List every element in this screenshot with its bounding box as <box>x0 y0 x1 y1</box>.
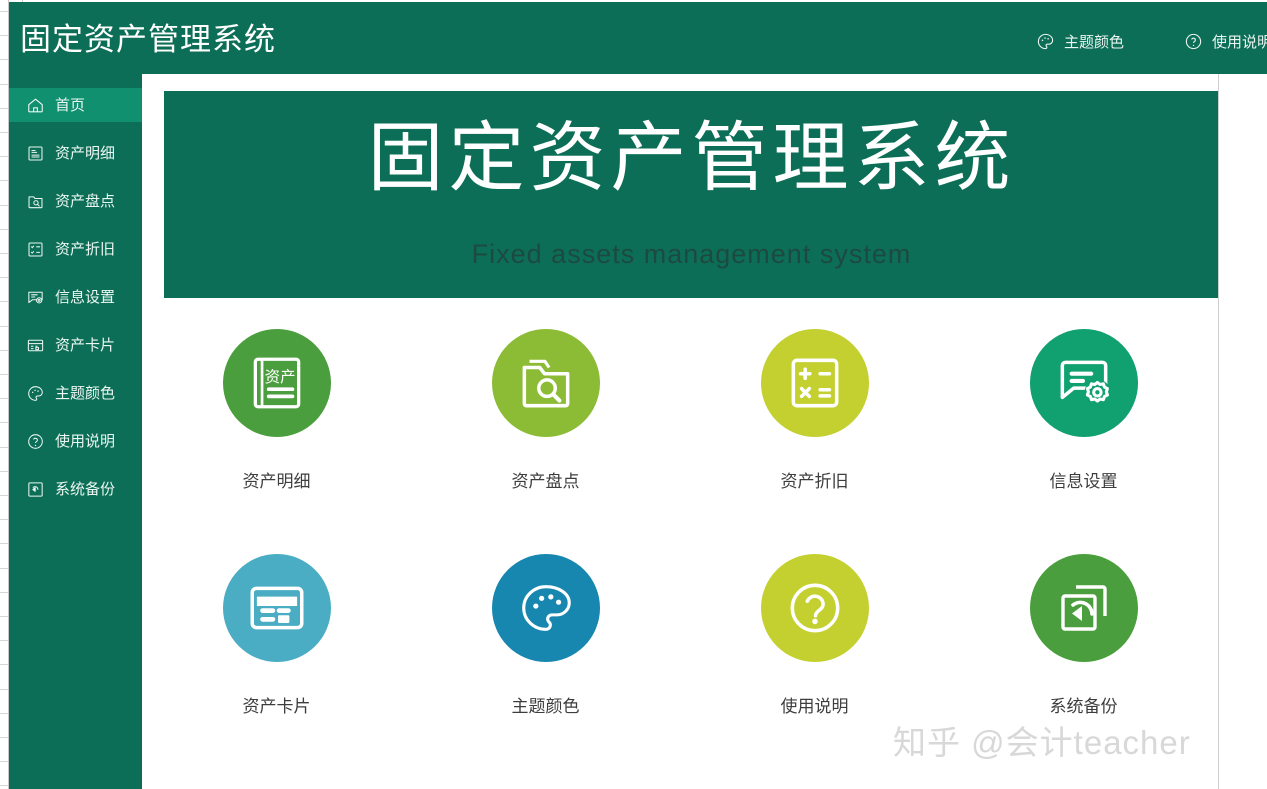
sidebar-item-asset-inventory-label: 资产盘点 <box>55 194 115 209</box>
sidebar-item-help[interactable]: 使用说明 <box>9 424 142 458</box>
palette-icon <box>26 384 45 403</box>
tile-asset-depreciation[interactable]: 资产折旧 <box>680 329 949 492</box>
hero-banner-title: 固定资产管理系统 <box>164 115 1218 202</box>
backup-icon <box>26 480 45 499</box>
header-action-theme-color-label: 主题颜色 <box>1064 31 1124 52</box>
palette-icon <box>1036 32 1055 51</box>
card-icon <box>244 575 310 641</box>
tile-theme-color-label: 主题颜色 <box>512 692 580 717</box>
sidebar-item-asset-depreciation[interactable]: 资产折旧 <box>9 232 142 266</box>
tile-asset-detail-label: 资产明细 <box>243 467 311 492</box>
tile-help-label: 使用说明 <box>781 692 849 717</box>
folder-search-icon <box>26 192 45 211</box>
folder-search-icon <box>513 350 579 416</box>
sidebar: 首页 资产明细 资产盘点 资产折旧 <box>9 74 142 789</box>
checklist-icon <box>26 240 45 259</box>
tile-theme-color-circle <box>492 554 600 662</box>
asset-book-icon: 资产 <box>244 350 310 416</box>
sidebar-item-help-label: 使用说明 <box>55 434 115 449</box>
sidebar-item-system-backup[interactable]: 系统备份 <box>9 472 142 506</box>
header-action-help[interactable]: 使用说明 <box>1184 30 1267 52</box>
tile-system-backup[interactable]: 系统备份 <box>949 554 1218 717</box>
sidebar-item-home-label: 首页 <box>55 98 85 113</box>
sidebar-item-info-settings[interactable]: 信息设置 <box>9 280 142 314</box>
shortcut-tile-grid: 资产 资产明细 资产盘点 <box>142 329 1218 717</box>
app-title: 固定资产管理系统 <box>20 14 276 59</box>
tile-asset-detail-circle: 资产 <box>223 329 331 437</box>
question-circle-icon <box>1184 32 1203 51</box>
sidebar-item-theme-color-label: 主题颜色 <box>55 386 115 401</box>
sidebar-item-asset-card-label: 资产卡片 <box>55 338 115 353</box>
sidebar-item-system-backup-label: 系统备份 <box>55 482 115 497</box>
tile-asset-depreciation-circle <box>761 329 869 437</box>
tile-theme-color[interactable]: 主题颜色 <box>411 554 680 717</box>
app-header: 固定资产管理系统 主题颜色 使用说明 <box>9 2 1267 74</box>
tile-info-settings[interactable]: 信息设置 <box>949 329 1218 492</box>
calculator-icon <box>782 350 848 416</box>
svg-text:资产: 资产 <box>264 368 295 386</box>
sidebar-item-home[interactable]: 首页 <box>9 88 142 122</box>
sidebar-item-asset-inventory[interactable]: 资产盘点 <box>9 184 142 218</box>
sidebar-item-theme-color[interactable]: 主题颜色 <box>9 376 142 410</box>
tile-asset-detail[interactable]: 资产 资产明细 <box>142 329 411 492</box>
sidebar-item-asset-depreciation-label: 资产折旧 <box>55 242 115 257</box>
message-gear-icon <box>26 288 45 307</box>
sidebar-item-asset-card[interactable]: 资产卡片 <box>9 328 142 362</box>
tile-help-circle <box>761 554 869 662</box>
spreadsheet-column-divider <box>1218 57 1219 789</box>
tile-asset-card-circle <box>223 554 331 662</box>
header-action-help-label: 使用说明 <box>1212 31 1267 52</box>
tile-asset-depreciation-label: 资产折旧 <box>781 467 849 492</box>
backup-icon <box>1052 576 1116 640</box>
hero-banner: 固定资产管理系统 Fixed assets management system <box>164 91 1218 298</box>
tile-system-backup-label: 系统备份 <box>1050 692 1118 717</box>
header-action-theme-color[interactable]: 主题颜色 <box>1036 30 1124 52</box>
question-circle-icon <box>26 432 45 451</box>
palette-icon <box>515 577 577 639</box>
sidebar-item-info-settings-label: 信息设置 <box>55 290 115 305</box>
sidebar-item-asset-detail[interactable]: 资产明细 <box>9 136 142 170</box>
tile-asset-inventory-circle <box>492 329 600 437</box>
document-icon <box>26 144 45 163</box>
tile-info-settings-label: 信息设置 <box>1050 467 1118 492</box>
home-icon <box>26 96 45 115</box>
tile-asset-inventory-label: 资产盘点 <box>512 467 580 492</box>
tile-asset-card[interactable]: 资产卡片 <box>142 554 411 717</box>
tile-system-backup-circle <box>1030 554 1138 662</box>
message-gear-icon <box>1051 350 1117 416</box>
tile-info-settings-circle <box>1030 329 1138 437</box>
tile-asset-card-label: 资产卡片 <box>243 692 311 717</box>
tile-help[interactable]: 使用说明 <box>680 554 949 717</box>
tile-asset-inventory[interactable]: 资产盘点 <box>411 329 680 492</box>
main-content: 固定资产管理系统 Fixed assets management system … <box>142 74 1218 789</box>
question-circle-icon <box>782 575 848 641</box>
sidebar-item-asset-detail-label: 资产明细 <box>55 146 115 161</box>
hero-banner-subtitle: Fixed assets management system <box>164 239 1218 270</box>
card-icon <box>26 336 45 355</box>
